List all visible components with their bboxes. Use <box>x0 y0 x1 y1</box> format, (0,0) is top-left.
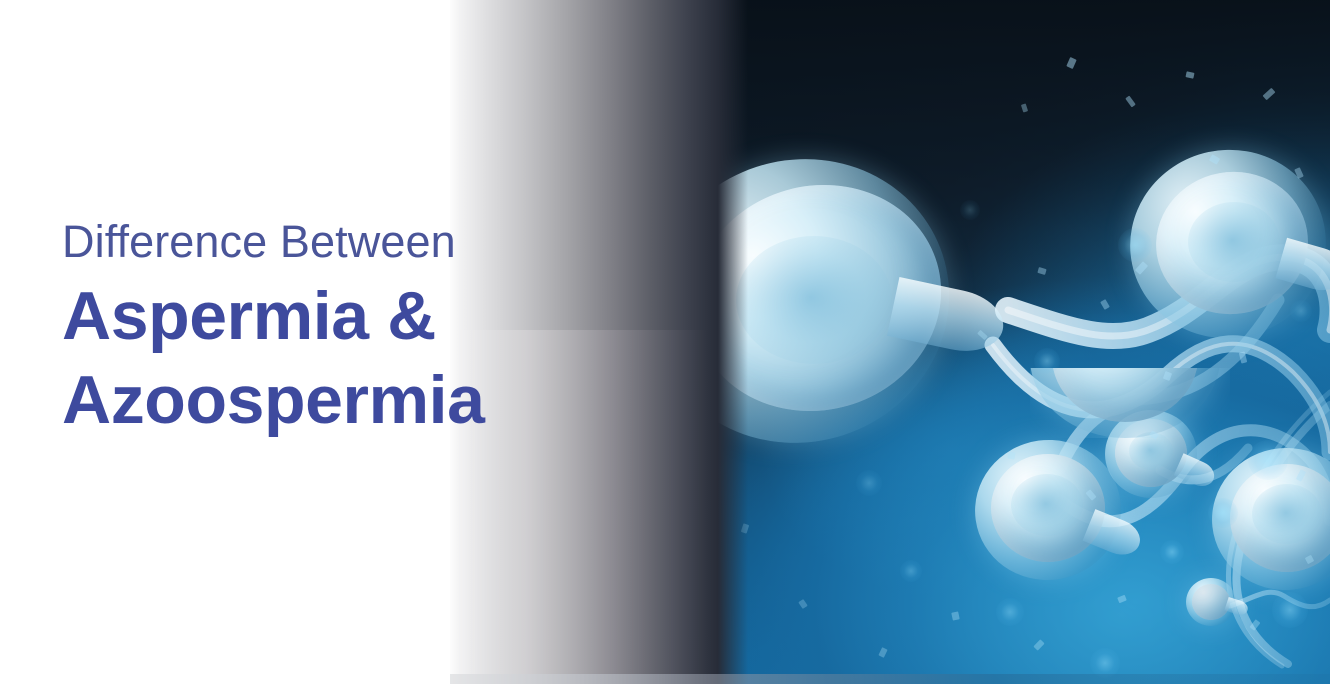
banner-headline-line-1: Aspermia & <box>62 274 702 358</box>
bokeh-spark <box>900 560 922 582</box>
sperm-head-core-shadow <box>1252 484 1322 544</box>
sperm-cell-cropped-top <box>1030 368 1230 438</box>
sperm-cell-tiny <box>1186 578 1248 630</box>
bokeh-spark <box>1208 498 1238 528</box>
artwork-bottom-edge-band <box>448 674 1330 684</box>
bokeh-spark <box>1034 348 1060 374</box>
bokeh-spark <box>1118 228 1152 262</box>
debris-fleck <box>1007 451 1015 459</box>
banner-title-block: Difference Between Aspermia & Azoospermi… <box>62 214 702 442</box>
sperm-head-nucleus <box>1192 584 1230 620</box>
banner-headline-line-2: Azoospermia <box>62 358 702 442</box>
sperm-head-core-shadow <box>736 236 892 364</box>
banner-eyebrow: Difference Between <box>62 214 702 270</box>
debris-fleck <box>951 611 960 620</box>
bokeh-spark <box>1290 300 1312 322</box>
bokeh-spark <box>960 200 980 220</box>
bokeh-spark <box>1160 540 1184 564</box>
sperm-head-core-shadow <box>1188 202 1280 282</box>
hero-banner: Difference Between Aspermia & Azoospermi… <box>0 0 1330 684</box>
bokeh-spark <box>996 598 1024 626</box>
bokeh-spark <box>856 470 882 496</box>
bokeh-spark <box>1248 440 1288 480</box>
bokeh-spark <box>1272 592 1308 628</box>
sperm-head-core-shadow <box>1011 474 1083 536</box>
